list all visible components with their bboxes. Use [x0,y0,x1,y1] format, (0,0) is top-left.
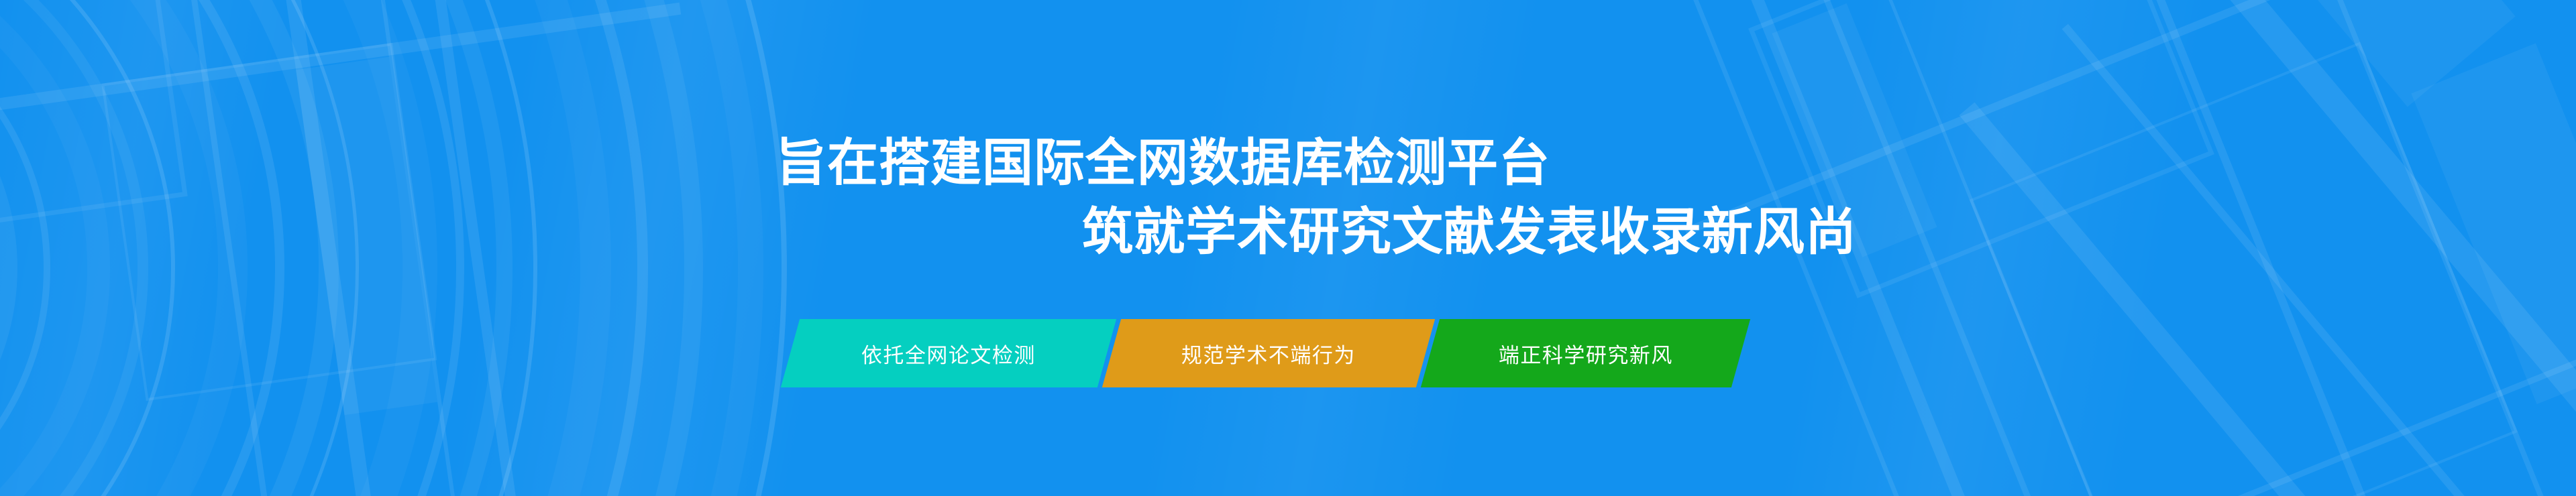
headline-line-2: 筑就学术研究文献发表收录新风尚 [1082,207,1857,258]
feature-badge-misconduct[interactable]: 规范学术不端行为 [1102,319,1435,387]
headline-block: 旨在搭建国际全网数据库检测平台 筑就学术研究文献发表收录新风尚 [0,0,2576,496]
feature-badge-strip: 依托全网论文检测 规范学术不端行为 端正科学研究新风 [790,319,1741,387]
feature-badge-label: 依托全网论文检测 [861,338,1036,369]
feature-badge-research-ethos[interactable]: 端正科学研究新风 [1421,319,1750,387]
feature-badge-label: 端正科学研究新风 [1499,338,1673,369]
promotional-banner: 旨在搭建国际全网数据库检测平台 筑就学术研究文献发表收录新风尚 依托全网论文检测… [0,0,2576,496]
feature-badge-label: 规范学术不端行为 [1181,338,1356,369]
headline-line-1: 旨在搭建国际全网数据库检测平台 [775,138,1550,189]
feature-badge-detection[interactable]: 依托全网论文检测 [781,319,1116,387]
